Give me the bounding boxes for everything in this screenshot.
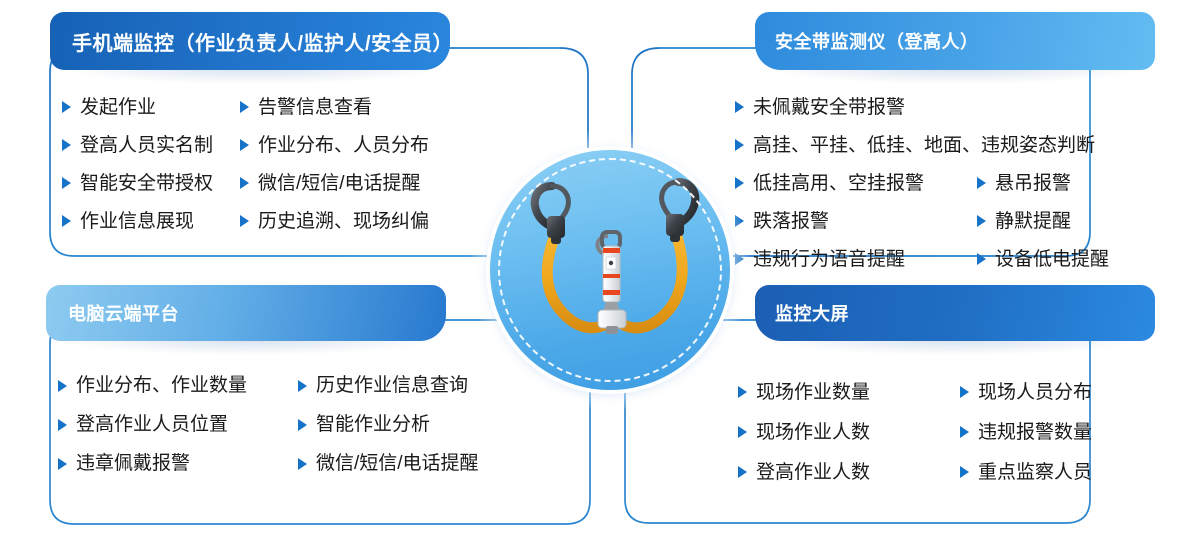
- list-item[interactable]: 登高人员实名制: [62, 126, 240, 164]
- list-item[interactable]: 设备低电提醒: [977, 240, 1109, 278]
- panel-header-top-left: 手机端监控（作业负责人/监护人/安全员）: [50, 12, 450, 70]
- triangle-bullet-icon: [977, 177, 986, 189]
- triangle-bullet-icon: [298, 419, 307, 431]
- list-item-label: 跌落报警: [753, 212, 829, 231]
- list-item[interactable]: 作业分布、作业数量: [58, 366, 298, 405]
- list-item[interactable]: 低挂高用、空挂报警: [735, 164, 977, 202]
- triangle-bullet-icon: [735, 139, 744, 151]
- center-circle: [490, 150, 730, 390]
- list-item[interactable]: 违章佩戴报警: [58, 444, 298, 483]
- list-item[interactable]: 违规行为语音提醒: [735, 240, 977, 278]
- triangle-bullet-icon: [960, 386, 969, 398]
- list-item-label: 重点监察人员: [978, 463, 1092, 482]
- list-column-1: 作业分布、作业数量 登高作业人员位置 违章佩戴报警: [58, 366, 298, 483]
- list-column-2: 历史作业信息查询 智能作业分析 微信/短信/电话提醒: [298, 366, 479, 483]
- list-item-label: 告警信息查看: [258, 98, 372, 117]
- list-item-label: 现场人员分布: [978, 383, 1092, 402]
- list-item-label: 登高作业人员位置: [76, 415, 228, 434]
- triangle-bullet-icon: [977, 253, 986, 265]
- list-item-label: 智能安全带授权: [80, 174, 213, 193]
- triangle-bullet-icon: [62, 101, 71, 113]
- list-item-label: 登高人员实名制: [80, 136, 213, 155]
- list-item[interactable]: 静默提醒: [977, 202, 1109, 240]
- list-column-1: 发起作业 登高人员实名制 智能安全带授权 作业信息展现: [62, 88, 240, 240]
- list-item[interactable]: 微信/短信/电话提醒: [298, 444, 479, 483]
- list-item-label: 微信/短信/电话提醒: [316, 454, 479, 473]
- triangle-bullet-icon: [240, 139, 249, 151]
- list-item-label: 历史作业信息查询: [316, 376, 468, 395]
- header-shadow-top-left: [62, 68, 442, 84]
- triangle-bullet-icon: [735, 177, 744, 189]
- header-shadow-top-right: [765, 68, 1145, 84]
- list-item-label: 低挂高用、空挂报警: [753, 174, 924, 193]
- triangle-bullet-icon: [240, 177, 249, 189]
- list-item-label: 静默提醒: [995, 212, 1071, 231]
- list-item[interactable]: 高挂、平挂、低挂、地面、违规姿态判断: [735, 126, 1109, 164]
- list-item-label: 未佩戴安全带报警: [753, 98, 905, 117]
- panel-header-bottom-left: 电脑云端平台: [46, 285, 446, 341]
- triangle-bullet-icon: [298, 458, 307, 470]
- list-item-label: 设备低电提醒: [995, 250, 1109, 269]
- triangle-bullet-icon: [58, 419, 67, 431]
- triangle-bullet-icon: [738, 466, 747, 478]
- list-item-label: 高挂、平挂、低挂、地面、违规姿态判断: [753, 136, 1095, 155]
- list-item[interactable]: 现场作业人数: [738, 412, 960, 452]
- shock-absorber-pack: [597, 232, 626, 334]
- list-item[interactable]: 违规报警数量: [960, 412, 1092, 452]
- triangle-bullet-icon: [738, 426, 747, 438]
- panel-title-top-right: 安全带监测仪（登高人）: [775, 28, 979, 54]
- list-item[interactable]: 跌落报警: [735, 202, 977, 240]
- list-item-label: 发起作业: [80, 98, 156, 117]
- list-item-label: 违章佩戴报警: [76, 454, 190, 473]
- triangle-bullet-icon: [62, 215, 71, 227]
- list-item-label: 作业信息展现: [80, 212, 194, 231]
- list-column-2: 悬吊报警 静默提醒 设备低电提醒: [977, 164, 1109, 278]
- list-item[interactable]: 现场人员分布: [960, 372, 1092, 412]
- triangle-bullet-icon: [240, 215, 249, 227]
- list-item-label: 登高作业人数: [756, 463, 870, 482]
- triangle-bullet-icon: [960, 426, 969, 438]
- list-item[interactable]: 告警信息查看: [240, 88, 429, 126]
- triangle-bullet-icon: [977, 215, 986, 227]
- diagram-canvas: 手机端监控（作业负责人/监护人/安全员） 发起作业 登高人员实名制 智能安全带授…: [0, 0, 1200, 550]
- panel-list-bottom-left: 作业分布、作业数量 登高作业人员位置 违章佩戴报警 历史作业信息查询 智能作业分…: [58, 366, 479, 483]
- list-item-label: 作业分布、人员分布: [258, 136, 429, 155]
- list-item[interactable]: 未佩戴安全带报警: [735, 88, 1109, 126]
- list-item-label: 作业分布、作业数量: [76, 376, 247, 395]
- triangle-bullet-icon: [735, 101, 744, 113]
- list-item[interactable]: 历史作业信息查询: [298, 366, 479, 405]
- panel-title-top-left: 手机端监控（作业负责人/监护人/安全员）: [72, 27, 453, 56]
- triangle-bullet-icon: [240, 101, 249, 113]
- triangle-bullet-icon: [58, 380, 67, 392]
- list-item-label: 违规行为语音提醒: [753, 250, 905, 269]
- list-item[interactable]: 作业分布、人员分布: [240, 126, 429, 164]
- list-column-1: 低挂高用、空挂报警 跌落报警 违规行为语音提醒: [735, 164, 977, 278]
- safety-harness-illustration: [490, 150, 730, 390]
- list-item-label: 悬吊报警: [995, 174, 1071, 193]
- list-item[interactable]: 微信/短信/电话提醒: [240, 164, 429, 202]
- list-item[interactable]: 悬吊报警: [977, 164, 1109, 202]
- panel-title-bottom-left: 电脑云端平台: [68, 300, 179, 326]
- header-shadow-bottom-left: [58, 339, 438, 355]
- panel-title-bottom-right: 监控大屏: [775, 300, 849, 326]
- list-item[interactable]: 登高作业人数: [738, 452, 960, 492]
- list-item[interactable]: 重点监察人员: [960, 452, 1092, 492]
- list-item[interactable]: 智能安全带授权: [62, 164, 240, 202]
- list-item[interactable]: 登高作业人员位置: [58, 405, 298, 444]
- list-column-2: 现场人员分布 违规报警数量 重点监察人员: [960, 372, 1092, 492]
- triangle-bullet-icon: [58, 458, 67, 470]
- triangle-bullet-icon: [298, 380, 307, 392]
- list-item-label: 智能作业分析: [316, 415, 430, 434]
- triangle-bullet-icon: [960, 466, 969, 478]
- list-item-label: 微信/短信/电话提醒: [258, 174, 421, 193]
- header-shadow-bottom-right: [765, 339, 1145, 355]
- triangle-bullet-icon: [738, 386, 747, 398]
- panel-list-top-left: 发起作业 登高人员实名制 智能安全带授权 作业信息展现 告警信息查看: [62, 88, 429, 240]
- list-item[interactable]: 历史追溯、现场纠偏: [240, 202, 429, 240]
- list-item[interactable]: 现场作业数量: [738, 372, 960, 412]
- list-column-2: 告警信息查看 作业分布、人员分布 微信/短信/电话提醒 历史追溯、现场纠偏: [240, 88, 429, 240]
- triangle-bullet-icon: [62, 177, 71, 189]
- panel-list-top-right: 未佩戴安全带报警 高挂、平挂、低挂、地面、违规姿态判断 低挂高用、空挂报警 跌落…: [735, 88, 1109, 278]
- list-row-pair: 低挂高用、空挂报警 跌落报警 违规行为语音提醒 悬吊报警 静: [735, 164, 1109, 278]
- panel-list-bottom-right: 现场作业数量 现场作业人数 登高作业人数 现场人员分布 违规报警数量: [738, 372, 1092, 492]
- list-item[interactable]: 智能作业分析: [298, 405, 479, 444]
- panel-header-bottom-right: 监控大屏: [755, 285, 1155, 341]
- list-item[interactable]: 发起作业: [62, 88, 240, 126]
- list-item-label: 现场作业人数: [756, 423, 870, 442]
- list-item-label: 历史追溯、现场纠偏: [258, 212, 429, 231]
- list-column-1: 现场作业数量 现场作业人数 登高作业人数: [738, 372, 960, 492]
- snap-hook-left: [535, 186, 569, 244]
- list-item-label: 违规报警数量: [978, 423, 1092, 442]
- snap-hook-right: [662, 182, 696, 242]
- list-item-label: 现场作业数量: [756, 383, 870, 402]
- panel-header-top-right: 安全带监测仪（登高人）: [755, 12, 1155, 70]
- list-item[interactable]: 作业信息展现: [62, 202, 240, 240]
- triangle-bullet-icon: [62, 139, 71, 151]
